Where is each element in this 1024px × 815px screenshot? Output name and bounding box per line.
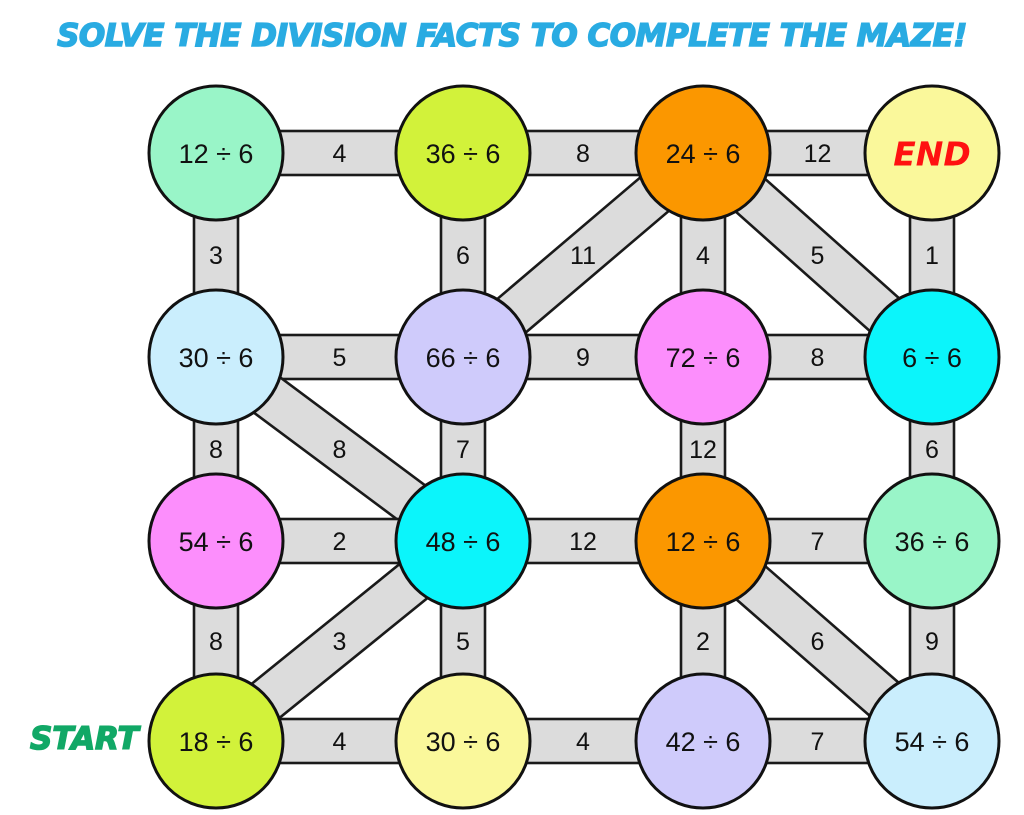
node-fact-label: 54 ÷ 6 xyxy=(179,527,254,557)
node-fact-label: 12 ÷ 6 xyxy=(666,527,741,557)
edge-label: 11 xyxy=(570,242,596,270)
node-fact-label: 36 ÷ 6 xyxy=(895,527,970,557)
edge-label: 8 xyxy=(209,628,223,656)
node-fact-label: 30 ÷ 6 xyxy=(179,343,254,373)
end-label: END xyxy=(893,135,971,174)
node-fact-label: 42 ÷ 6 xyxy=(666,727,741,757)
edge-label: 7 xyxy=(456,436,470,464)
edge-label: 1 xyxy=(925,242,939,270)
edge-label: 6 xyxy=(811,628,825,656)
node-fact-label: 54 ÷ 6 xyxy=(895,727,970,757)
edge-label: 6 xyxy=(456,242,470,270)
node-fact-label: 66 ÷ 6 xyxy=(426,343,501,373)
node-fact-label: 72 ÷ 6 xyxy=(666,343,741,373)
edge-label: 4 xyxy=(333,728,347,756)
node-fact-label: 12 ÷ 6 xyxy=(179,139,254,169)
node-fact-label: 24 ÷ 6 xyxy=(666,139,741,169)
edge-label: 2 xyxy=(696,628,710,656)
node-fact-label: 18 ÷ 6 xyxy=(179,727,254,757)
edge-label: 8 xyxy=(811,344,825,372)
node-fact-label: 6 ÷ 6 xyxy=(902,343,962,373)
edge-label: 9 xyxy=(925,628,939,656)
edge-label: 3 xyxy=(209,242,223,270)
edge-label: 3 xyxy=(333,628,347,656)
node-fact-label: 48 ÷ 6 xyxy=(426,527,501,557)
edge-label: 2 xyxy=(333,528,347,556)
edge-label: 4 xyxy=(696,242,710,270)
edge-label: 7 xyxy=(811,728,825,756)
edge-label: 12 xyxy=(689,436,717,464)
edge-label: 8 xyxy=(333,436,347,464)
node-fact-label: 30 ÷ 6 xyxy=(426,727,501,757)
edge-label: 8 xyxy=(576,140,590,168)
maze-worksheet-page: SOLVE THE DIVISION FACTS TO COMPLETE THE… xyxy=(0,0,1024,815)
edge-label: 7 xyxy=(811,528,825,556)
edge-label: 12 xyxy=(569,528,597,556)
edge-layer xyxy=(194,131,954,763)
edge-label: 12 xyxy=(804,140,832,168)
edge-label: 5 xyxy=(456,628,470,656)
node-fact-label: 36 ÷ 6 xyxy=(426,139,501,169)
edge-label: 4 xyxy=(576,728,590,756)
edge-label: 4 xyxy=(333,140,347,168)
edge-label: 6 xyxy=(925,436,939,464)
edge-label: 5 xyxy=(811,242,825,270)
maze-graph: 12 ÷ 636 ÷ 624 ÷ 6END30 ÷ 666 ÷ 672 ÷ 66… xyxy=(0,0,1024,815)
edge-label: 8 xyxy=(209,436,223,464)
edge-label: 5 xyxy=(333,344,347,372)
edge-label: 9 xyxy=(576,344,590,372)
